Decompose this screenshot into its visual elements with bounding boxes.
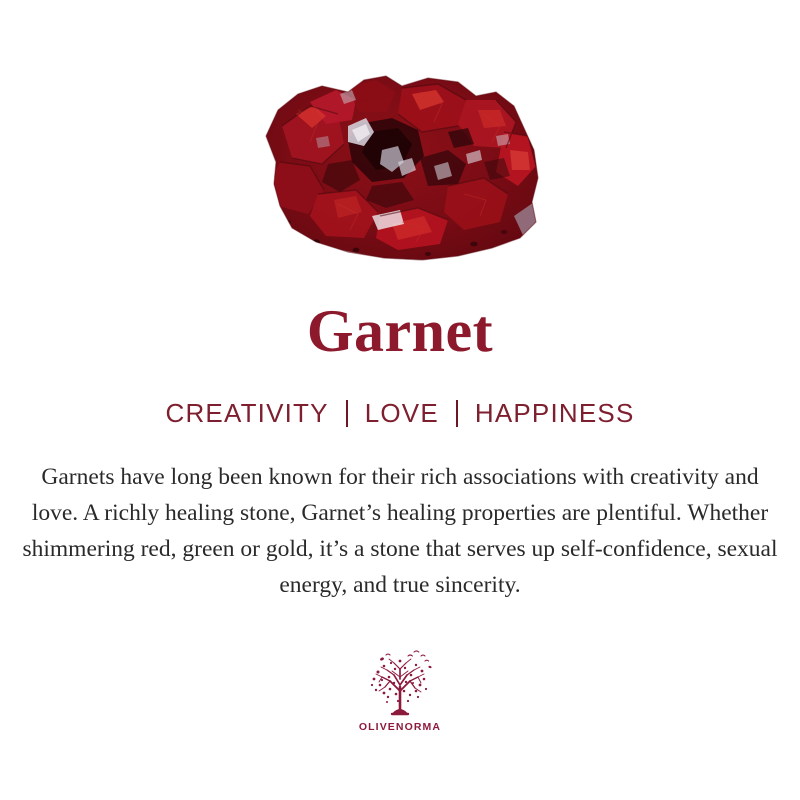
tree-of-life-icon — [358, 647, 442, 719]
garnet-crystal-illustration — [252, 66, 548, 268]
keyword-creativity: CREATIVITY — [165, 400, 328, 426]
gemstone-info-card: Garnet CREATIVITY LOVE HAPPINESS Garnets… — [0, 0, 800, 800]
brand-wordmark: OLIVENORMA — [359, 722, 441, 733]
keyword-row: CREATIVITY LOVE HAPPINESS — [165, 398, 634, 428]
brand-logo: OLIVENORMA — [358, 647, 442, 733]
description-block: Garnets have long been known for their r… — [20, 459, 780, 603]
garnet-stone-image — [252, 66, 548, 268]
page-title: Garnet — [307, 300, 493, 362]
keyword-separator — [456, 400, 458, 427]
hero-image-area — [0, 0, 800, 300]
description-text: Garnets have long been known for their r… — [20, 459, 780, 603]
keyword-separator — [346, 400, 348, 427]
keyword-happiness: HAPPINESS — [475, 400, 635, 426]
keyword-love: LOVE — [365, 400, 439, 426]
